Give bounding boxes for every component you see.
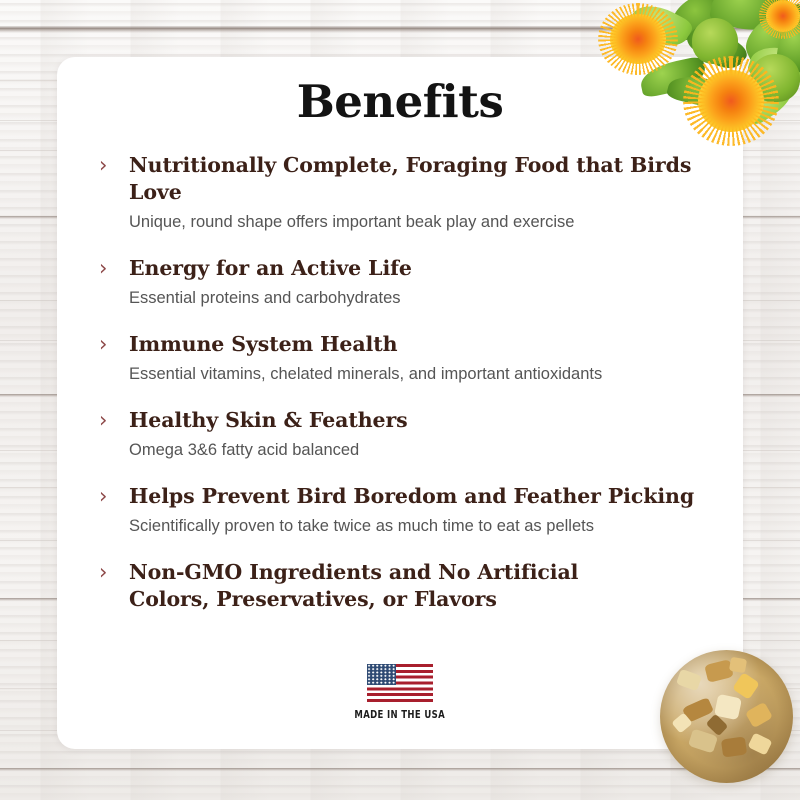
chevron-right-icon: ›: [99, 255, 107, 282]
food-chunk: [732, 672, 760, 700]
food-chunk: [729, 657, 747, 674]
usa-flag-icon: [367, 664, 433, 702]
food-chunk: [745, 702, 773, 729]
food-chunk: [721, 736, 747, 757]
benefit-heading: Non-GMO Ingredients and No Artificial Co…: [129, 559, 629, 613]
benefit-heading: Helps Prevent Bird Boredom and Feather P…: [129, 483, 715, 510]
list-item: › Non-GMO Ingredients and No Artificial …: [97, 559, 715, 613]
benefit-subtext: Essential vitamins, chelated minerals, a…: [129, 363, 715, 386]
food-chunk: [748, 732, 773, 755]
bird-food-ball: [660, 650, 793, 783]
benefit-subtext: Omega 3&6 fatty acid balanced: [129, 439, 715, 462]
made-in-usa-badge: MADE IN THE USA: [57, 664, 743, 721]
chevron-right-icon: ›: [99, 152, 107, 179]
benefit-heading: Immune System Health: [129, 331, 715, 358]
made-in-usa-label: MADE IN THE USA: [355, 708, 446, 721]
plank-seam: [0, 768, 800, 771]
chevron-right-icon: ›: [99, 483, 107, 510]
benefits-card: Benefits › Nutritionally Complete, Forag…: [57, 57, 743, 749]
list-item: › Energy for an Active Life Essential pr…: [97, 255, 715, 310]
list-item: › Immune System Health Essential vitamin…: [97, 331, 715, 386]
benefit-subtext: Essential proteins and carbohydrates: [129, 287, 715, 310]
benefit-heading: Healthy Skin & Feathers: [129, 407, 715, 434]
benefit-heading: Nutritionally Complete, Foraging Food th…: [129, 152, 715, 206]
flag-canton-stars: [367, 664, 396, 685]
list-item: › Helps Prevent Bird Boredom and Feather…: [97, 483, 715, 538]
food-chunk: [676, 669, 702, 692]
plank-seam: [0, 28, 800, 31]
product-benefits-infographic: Benefits › Nutritionally Complete, Forag…: [0, 0, 800, 800]
chevron-right-icon: ›: [99, 407, 107, 434]
benefits-list: › Nutritionally Complete, Foraging Food …: [97, 152, 715, 613]
chevron-right-icon: ›: [99, 559, 107, 586]
benefit-subtext: Scientifically proven to take twice as m…: [129, 515, 715, 538]
benefit-subtext: Unique, round shape offers important bea…: [129, 211, 715, 234]
chevron-right-icon: ›: [99, 331, 107, 358]
page-title: Benefits: [57, 75, 743, 128]
list-item: › Healthy Skin & Feathers Omega 3&6 fatt…: [97, 407, 715, 462]
benefit-heading: Energy for an Active Life: [129, 255, 715, 282]
list-item: › Nutritionally Complete, Foraging Food …: [97, 152, 715, 234]
